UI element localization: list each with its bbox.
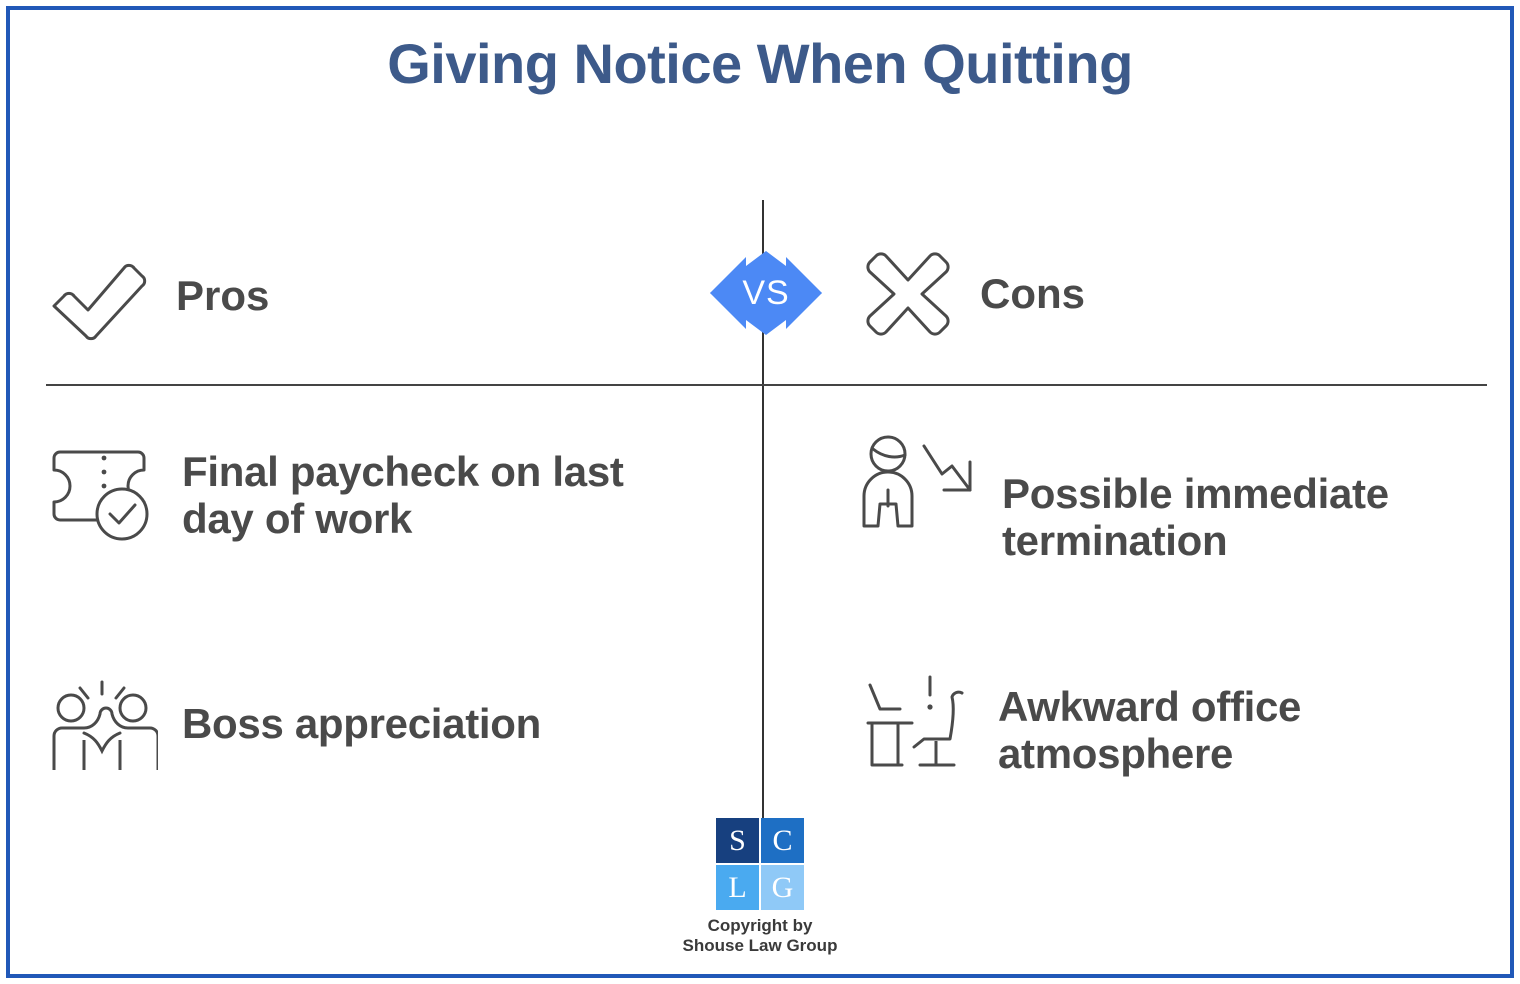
cons-item-label: Possible immediate termination	[1002, 470, 1498, 564]
pros-header-label: Pros	[176, 272, 269, 320]
desk-chair-alert-icon	[858, 665, 974, 773]
worker-downtrend-icon	[858, 432, 978, 536]
logo-cell-c: C	[761, 818, 804, 863]
cons-item-label: Awkward office atmosphere	[998, 683, 1498, 777]
pros-item-row: Final paycheck on last day of work	[46, 440, 706, 544]
horizontal-divider	[46, 384, 1487, 386]
logo-cell-g: G	[761, 865, 804, 910]
shouse-law-group-logo: S C L G	[716, 818, 804, 910]
pros-column-header: Pros	[46, 248, 269, 344]
high-five-people-icon	[46, 680, 158, 776]
paycheck-ticket-icon	[46, 440, 158, 544]
pros-item-label: Boss appreciation	[182, 700, 541, 747]
cons-item-row: Possible immediate termination	[858, 432, 1498, 564]
page-title: Giving Notice When Quitting	[0, 33, 1520, 95]
check-outline-icon	[46, 248, 150, 344]
logo-cell-l: L	[716, 865, 759, 910]
copyright-text: Copyright by Shouse Law Group	[683, 916, 838, 957]
infographic-canvas: Giving Notice When Quitting Pros Cons VS	[0, 0, 1520, 984]
cons-column-header: Cons	[862, 248, 1085, 340]
cons-item-row: Awkward office atmosphere	[858, 665, 1498, 777]
x-outline-icon	[862, 248, 954, 340]
copyright-line-1: Copyright by	[683, 916, 838, 936]
copyright-line-2: Shouse Law Group	[683, 936, 838, 956]
vs-label: VS	[710, 251, 822, 335]
footer: S C L G Copyright by Shouse Law Group	[0, 818, 1520, 957]
pros-item-label: Final paycheck on last day of work	[182, 448, 706, 542]
pros-item-row: Boss appreciation	[46, 680, 706, 776]
cons-header-label: Cons	[980, 270, 1085, 318]
logo-cell-s: S	[716, 818, 759, 863]
